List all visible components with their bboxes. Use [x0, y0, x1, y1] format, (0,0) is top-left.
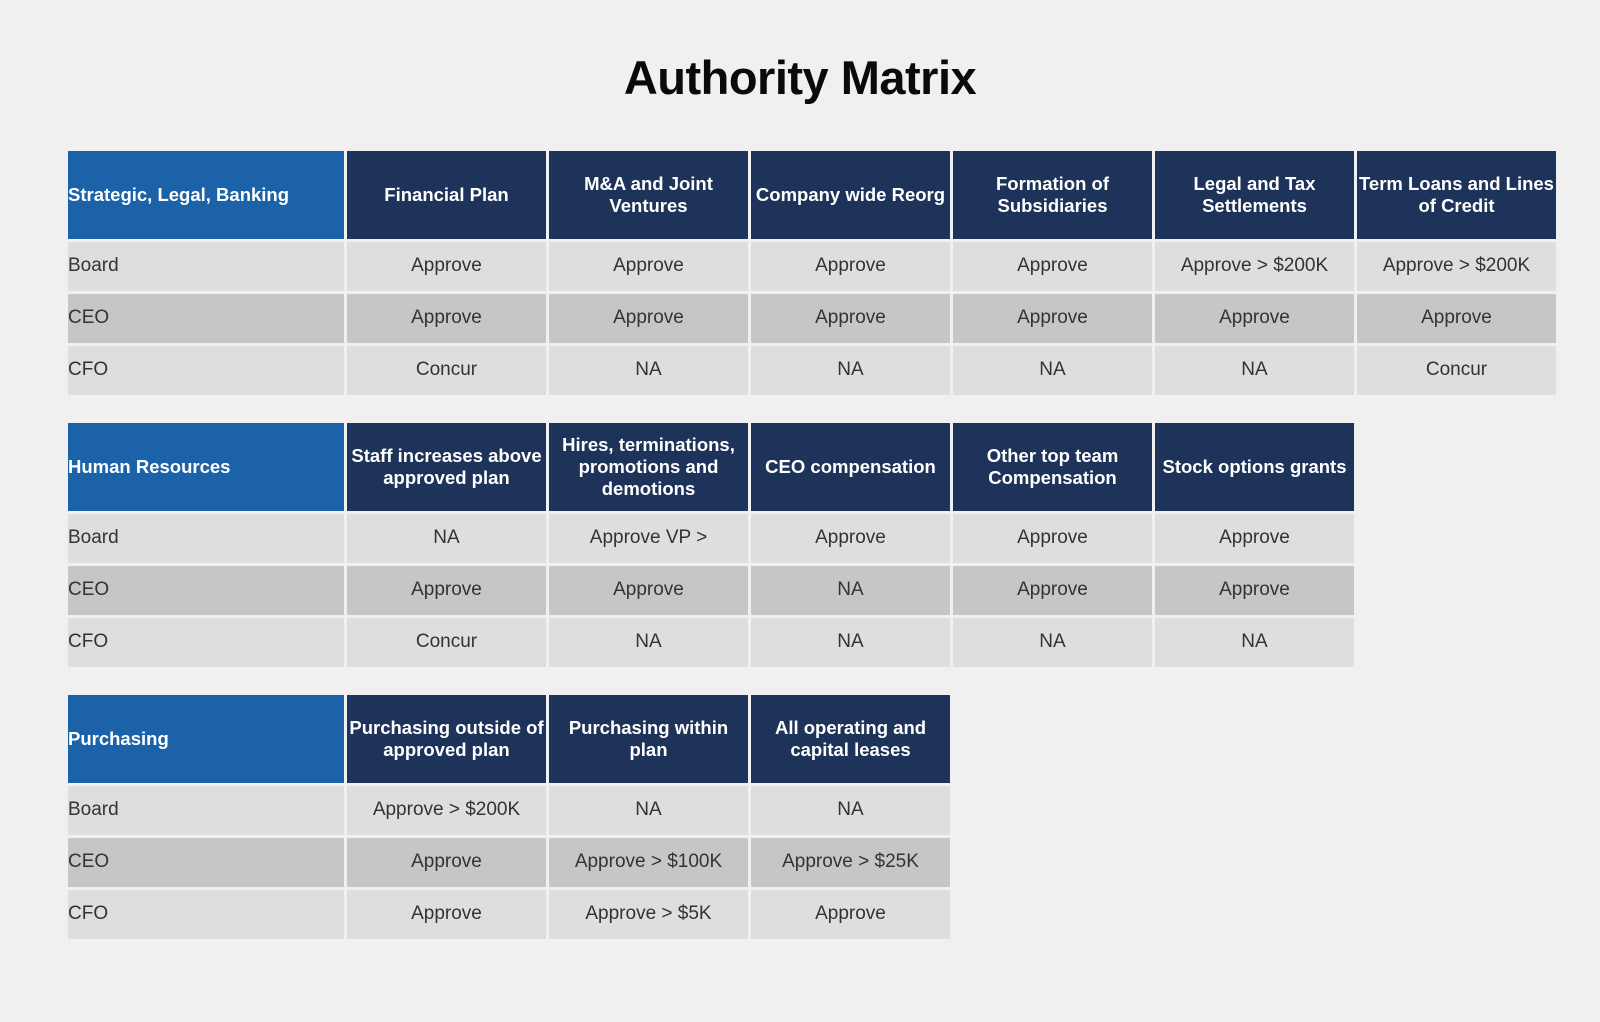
cell-value: Approve [1155, 294, 1354, 343]
cell-value: Approve [347, 838, 546, 887]
cell-value: Concur [1357, 346, 1556, 395]
row-label-ceo: CEO [68, 566, 344, 615]
authority-table-human-resources: Human Resources Staff increases above ap… [65, 420, 1357, 670]
cell-value: Approve [751, 890, 950, 939]
column-header-purchasing-within-plan: Purchasing within plan [549, 695, 748, 783]
cell-value: Approve [347, 294, 546, 343]
column-header-ceo-compensation: CEO compensation [751, 423, 950, 511]
cell-value: Approve > $25K [751, 838, 950, 887]
cell-value: Approve VP > [549, 514, 748, 563]
cell-value: NA [549, 618, 748, 667]
cell-value: Approve > $200K [1155, 242, 1354, 291]
cell-value: NA [953, 346, 1152, 395]
cell-value: Approve [347, 890, 546, 939]
column-header-company-wide-reorg: Company wide Reorg [751, 151, 950, 239]
column-header-legal-and-tax-settlements: Legal and Tax Settlements [1155, 151, 1354, 239]
cell-value: NA [347, 514, 546, 563]
matrix-tables-container: Strategic, Legal, Banking Financial Plan… [0, 104, 1600, 942]
category-header-purchasing: Purchasing [68, 695, 344, 783]
cell-value: NA [751, 618, 950, 667]
cell-value: Approve [953, 514, 1152, 563]
row-label-cfo: CFO [68, 890, 344, 939]
table-row: CEO Approve Approve NA Approve Approve [68, 566, 1354, 615]
cell-value: Approve [751, 514, 950, 563]
column-header-financial-plan: Financial Plan [347, 151, 546, 239]
category-header-strategic-legal-banking: Strategic, Legal, Banking [68, 151, 344, 239]
row-label-ceo: CEO [68, 294, 344, 343]
category-header-human-resources: Human Resources [68, 423, 344, 511]
column-header-stock-options-grants: Stock options grants [1155, 423, 1354, 511]
cell-value: NA [953, 618, 1152, 667]
cell-value: NA [751, 786, 950, 835]
cell-value: NA [751, 566, 950, 615]
cell-value: NA [1155, 346, 1354, 395]
cell-value: NA [549, 346, 748, 395]
cell-value: Approve [953, 242, 1152, 291]
table-row: CEO Approve Approve Approve Approve Appr… [68, 294, 1556, 343]
row-label-ceo: CEO [68, 838, 344, 887]
row-label-board: Board [68, 242, 344, 291]
column-header-purchasing-outside-of-approved-plan: Purchasing outside of approved plan [347, 695, 546, 783]
authority-table-strategic-legal-banking: Strategic, Legal, Banking Financial Plan… [65, 148, 1559, 398]
table-header-row: Strategic, Legal, Banking Financial Plan… [68, 151, 1556, 239]
table-row: CFO Concur NA NA NA NA [68, 618, 1354, 667]
cell-value: Approve [751, 242, 950, 291]
column-header-formation-of-subsidiaries: Formation of Subsidiaries [953, 151, 1152, 239]
cell-value: NA [549, 786, 748, 835]
table-row: CEO Approve Approve > $100K Approve > $2… [68, 838, 950, 887]
cell-value: Approve [953, 294, 1152, 343]
cell-value: Approve > $5K [549, 890, 748, 939]
column-header-other-top-team-compensation: Other top team Compensation [953, 423, 1152, 511]
table-row: Board NA Approve VP > Approve Approve Ap… [68, 514, 1354, 563]
column-header-all-operating-and-capital-leases: All operating and capital leases [751, 695, 950, 783]
column-header-ma-and-joint-ventures: M&A and Joint Ventures [549, 151, 748, 239]
row-label-cfo: CFO [68, 346, 344, 395]
cell-value: Approve [549, 566, 748, 615]
cell-value: Approve [751, 294, 950, 343]
cell-value: Approve [953, 566, 1152, 615]
cell-value: Concur [347, 618, 546, 667]
column-header-term-loans-and-lines-of-credit: Term Loans and Lines of Credit [1357, 151, 1556, 239]
table-row: Board Approve > $200K NA NA [68, 786, 950, 835]
cell-value: Concur [347, 346, 546, 395]
table-header-row: Human Resources Staff increases above ap… [68, 423, 1354, 511]
document-page: Authority Matrix Strategic, Legal, Banki… [0, 0, 1600, 1022]
cell-value: Approve > $100K [549, 838, 748, 887]
cell-value: Approve [1357, 294, 1556, 343]
row-label-cfo: CFO [68, 618, 344, 667]
table-row: CFO Approve Approve > $5K Approve [68, 890, 950, 939]
cell-value: Approve [549, 294, 748, 343]
column-header-staff-increases-above-approved-plan: Staff increases above approved plan [347, 423, 546, 511]
table-row: CFO Concur NA NA NA NA Concur [68, 346, 1556, 395]
cell-value: NA [751, 346, 950, 395]
column-header-hires-terminations-promotions-and-demotions: Hires, terminations, promotions and demo… [549, 423, 748, 511]
table-row: Board Approve Approve Approve Approve Ap… [68, 242, 1556, 291]
cell-value: NA [1155, 618, 1354, 667]
cell-value: Approve [1155, 514, 1354, 563]
cell-value: Approve > $200K [1357, 242, 1556, 291]
cell-value: Approve > $200K [347, 786, 546, 835]
row-label-board: Board [68, 786, 344, 835]
cell-value: Approve [347, 242, 546, 291]
table-header-row: Purchasing Purchasing outside of approve… [68, 695, 950, 783]
authority-table-purchasing: Purchasing Purchasing outside of approve… [65, 692, 953, 942]
page-title: Authority Matrix [0, 0, 1600, 104]
cell-value: Approve [347, 566, 546, 615]
cell-value: Approve [549, 242, 748, 291]
cell-value: Approve [1155, 566, 1354, 615]
row-label-board: Board [68, 514, 344, 563]
